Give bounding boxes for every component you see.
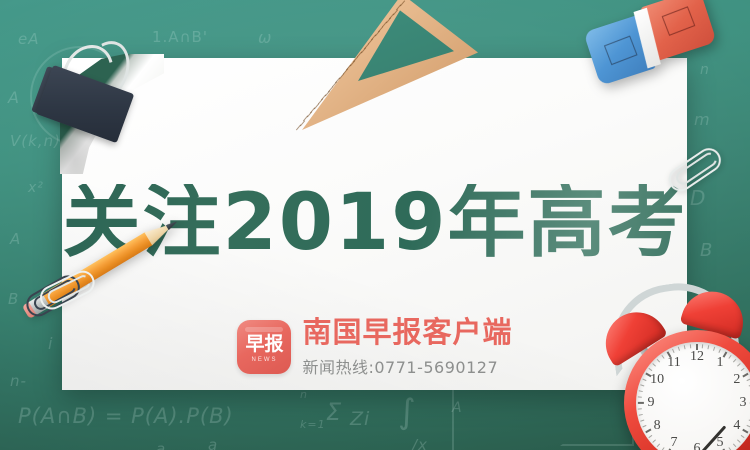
clock-tick (741, 435, 744, 438)
clock-tick (639, 390, 643, 392)
clock-tick (639, 414, 643, 416)
clock-tick (672, 349, 674, 353)
clock-tick (678, 347, 680, 351)
clock-tick (657, 359, 660, 362)
clock-tick (696, 344, 698, 350)
clock-numeral: 12 (689, 349, 705, 365)
clock-tick (702, 344, 703, 348)
clock-numeral: 9 (643, 395, 659, 411)
clock-tick (642, 425, 646, 427)
brand-name: 南国早报客户端 (302, 317, 512, 349)
clock-numeral: 3 (735, 395, 750, 411)
clock-tick (652, 363, 655, 366)
poster-canvas: 1.A∩B'2.A∩B3ωeAAV(k,n)x²ABin-P(A∩B) = P(… (0, 0, 750, 450)
clock-tick (638, 408, 642, 409)
clock-numeral: 7 (666, 435, 682, 450)
clock-numeral: 8 (649, 418, 665, 434)
clock-tick (652, 440, 655, 443)
triangle-ruler-icon (278, 0, 478, 130)
clock-tick (640, 420, 644, 422)
clock-tick (638, 402, 644, 404)
clock-tick (648, 435, 651, 438)
clock-numeral: 5 (712, 435, 728, 450)
clock-tick (708, 345, 710, 349)
clock-tick (661, 355, 664, 358)
logo-sub-text: NEWS (251, 357, 277, 363)
clock-tick (737, 440, 740, 443)
clock-tick (642, 379, 646, 381)
clock-tick (737, 363, 740, 366)
clock-tick (690, 344, 691, 348)
clock-tick (729, 355, 732, 358)
clock-tick (648, 368, 651, 371)
clock-numeral: 1 (712, 355, 728, 371)
clock-numeral: 10 (649, 372, 665, 388)
binder-clip-icon (36, 38, 140, 136)
clock-tick (733, 444, 736, 447)
clock-numeral: 4 (729, 418, 745, 434)
clock-tick (733, 359, 736, 362)
clock-tick (657, 444, 660, 447)
clock-tick (741, 368, 744, 371)
ruler-tick-marks (286, 0, 476, 130)
brand-text-block: 南国早报客户端 新闻热线:0771-5690127 (302, 317, 512, 378)
alarm-clock-icon: 121234567891011 (598, 288, 750, 450)
zaobao-logo-icon: 早报 NEWS (237, 320, 291, 374)
clock-tick (719, 349, 721, 353)
clock-numeral: 11 (666, 355, 682, 371)
brand-hotline: 新闻热线:0771-5690127 (302, 354, 512, 378)
clock-tick (638, 396, 642, 397)
clock-tick (640, 384, 644, 386)
clock-tick (713, 347, 715, 351)
clock-tick (684, 345, 686, 349)
ruler-tick (296, 124, 301, 130)
clock-numeral: 6 (689, 441, 705, 450)
logo-main-text: 早报 (245, 335, 283, 354)
